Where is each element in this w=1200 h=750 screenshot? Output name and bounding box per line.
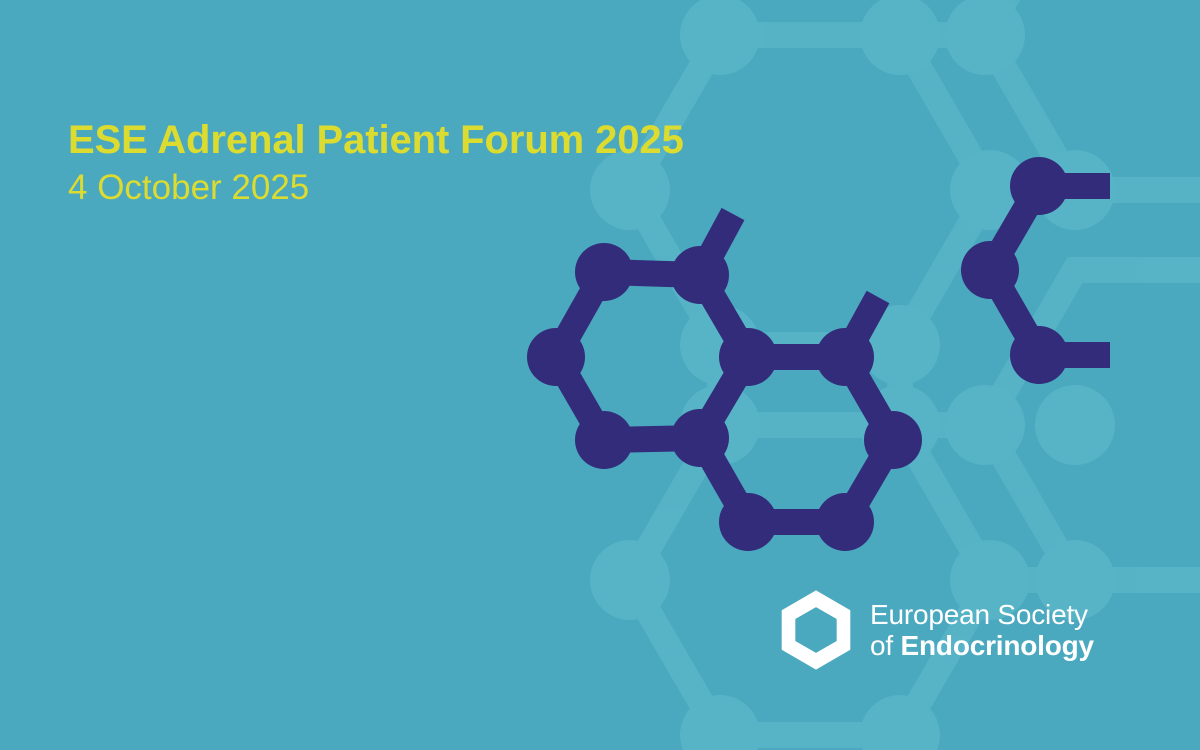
molecule-node [816,493,874,551]
molecule-node [961,241,1019,299]
molecule-node [719,493,777,551]
molecule-node [864,411,922,469]
event-banner: ESE Adrenal Patient Forum 2025 4 October… [0,0,1200,750]
molecule-node [671,409,729,467]
molecule-node [816,328,874,386]
molecule-node [719,328,777,386]
molecule-node [527,328,585,386]
molecule-node [575,243,633,301]
foreground-molecule-graphic [0,0,1200,750]
molecule-node [575,411,633,469]
molecule-node [1010,157,1068,215]
partial-hexagon-fragment-nodes [961,157,1068,384]
molecule-node [671,246,729,304]
molecule-node [1010,326,1068,384]
